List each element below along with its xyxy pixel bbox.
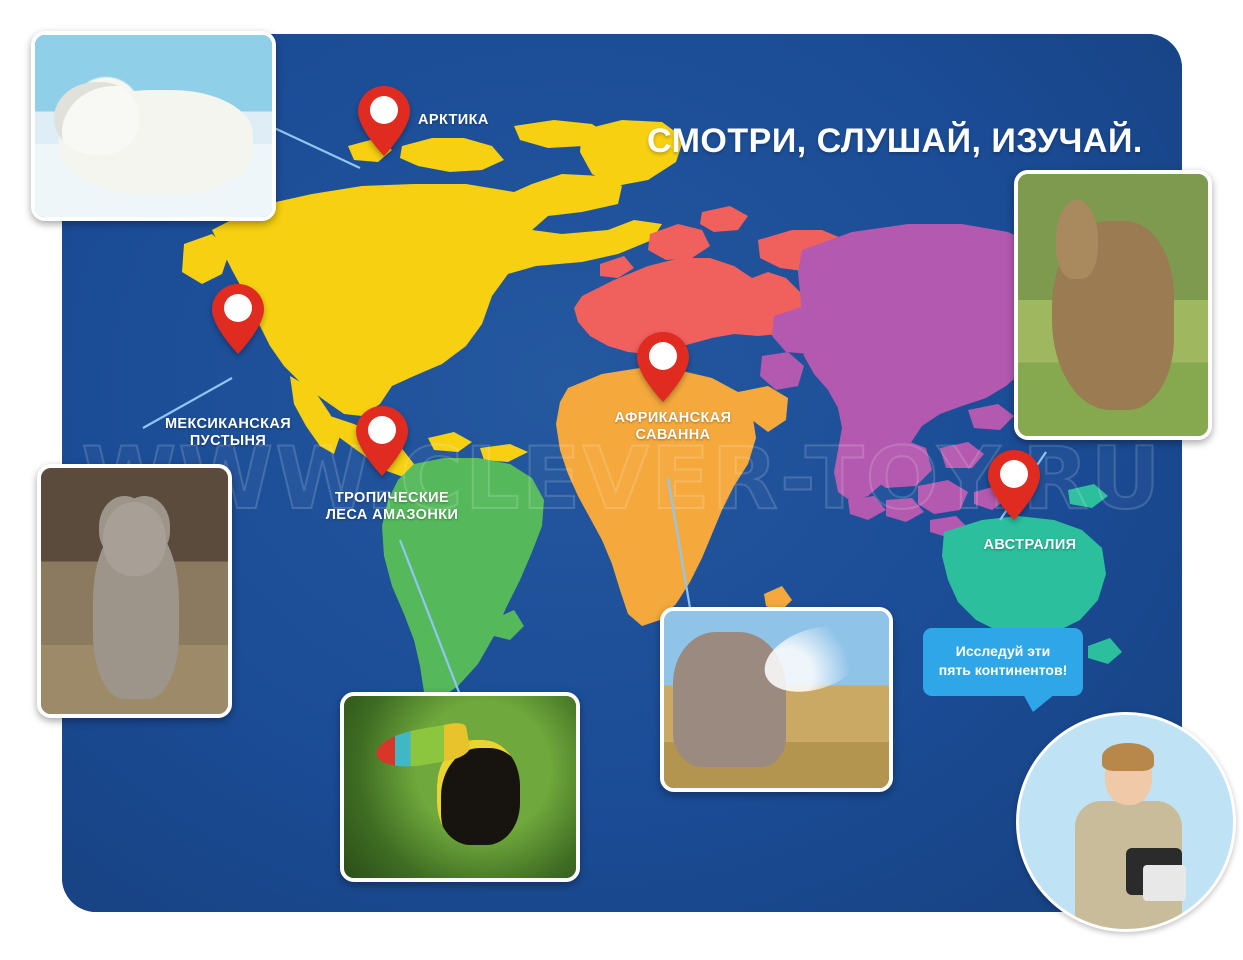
label-mexico: МЕКСИКАНСКАЯ ПУСТЫНЯ	[128, 416, 328, 450]
camera-lens-icon	[1143, 865, 1186, 901]
elephant-image	[664, 611, 889, 788]
polar-bear-image	[35, 35, 272, 217]
label-arctic: АРКТИКА	[418, 112, 558, 129]
label-amazon: ТРОПИЧЕСКИЕ ЛЕСА АМАЗОНКИ	[297, 490, 487, 524]
map-pin-amazon[interactable]	[353, 404, 411, 478]
label-australia: АВСТРАЛИЯ	[945, 537, 1115, 554]
map-pin-australia[interactable]	[985, 448, 1043, 522]
photo-kangaroo[interactable]	[1014, 170, 1212, 440]
map-pin-icon	[985, 448, 1043, 522]
map-pin-icon	[209, 282, 267, 356]
photo-coyote[interactable]	[37, 464, 232, 718]
photo-toucan[interactable]	[340, 692, 580, 882]
map-pin-savanna[interactable]	[634, 330, 692, 404]
photo-polar-bear[interactable]	[31, 31, 276, 221]
coyote-image	[41, 468, 228, 714]
toucan-image	[344, 696, 576, 878]
label-savanna: АФРИКАНСКАЯ САВАННА	[583, 410, 763, 444]
photo-elephant[interactable]	[660, 607, 893, 792]
continent-africa	[556, 368, 792, 626]
kangaroo-image	[1018, 174, 1208, 436]
page-title: СМОТРИ, СЛУШАЙ, ИЗУЧАЙ.	[647, 122, 1182, 161]
map-pin-icon	[353, 404, 411, 478]
speech-bubble: Исследуй эти пять континентов!	[923, 628, 1083, 696]
map-pin-mexico[interactable]	[209, 282, 267, 356]
photographer-character	[1016, 712, 1236, 932]
map-pin-arctic[interactable]	[355, 84, 413, 158]
map-pin-icon	[355, 84, 413, 158]
poster-canvas: WWW.CLEVER-TOY.RU СМОТРИ, СЛУШАЙ, ИЗУЧАЙ…	[0, 0, 1243, 960]
map-pin-icon	[634, 330, 692, 404]
mascot-hair	[1102, 743, 1153, 771]
